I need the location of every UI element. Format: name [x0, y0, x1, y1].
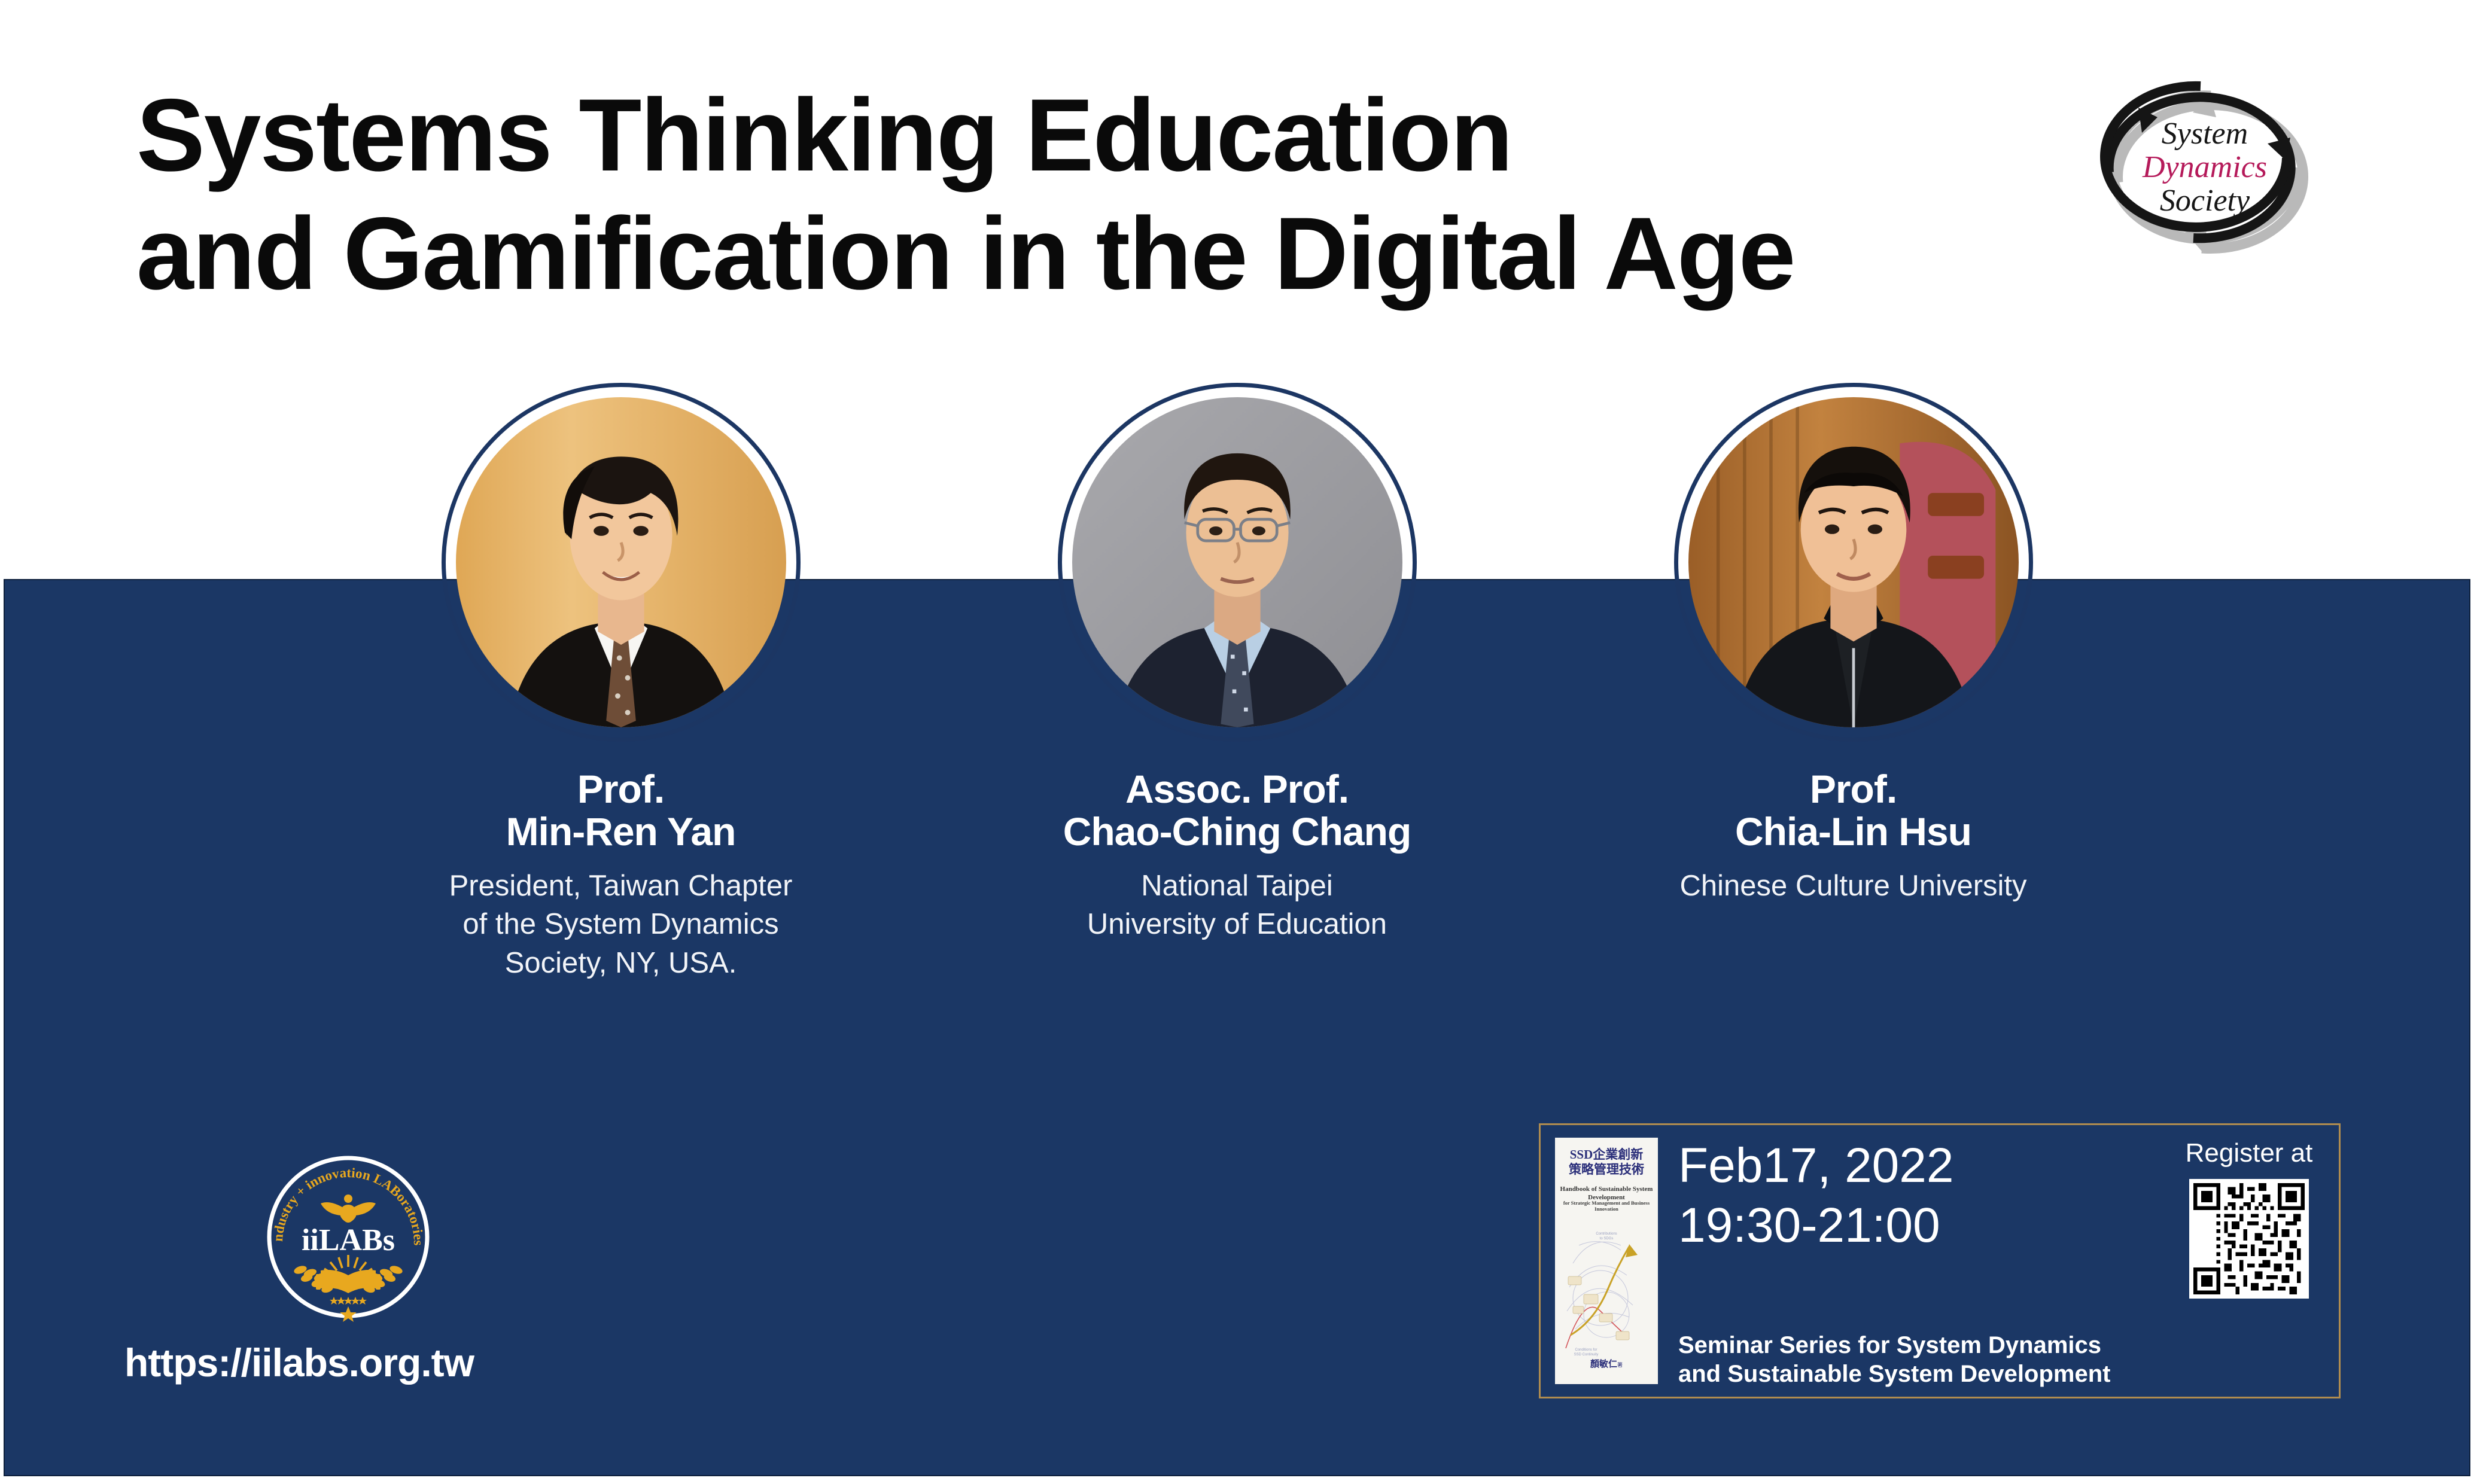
winged-figure-icon — [321, 1194, 376, 1223]
portrait-photo-chia-lin-hsu — [1688, 397, 2019, 727]
affil-line: Society, NY, USA. — [449, 944, 793, 983]
book-cover-image: Contributions to SDGs Conditions for SSD… — [1555, 1138, 1658, 1384]
speaker-card-3: Prof. Chia-Lin Hsu Chinese Culture Unive… — [1545, 383, 2162, 905]
page-title: Systems Thinking Education and Gamificat… — [136, 77, 2003, 313]
speaker-fullname-3: Chia-Lin Hsu — [1735, 810, 1971, 853]
iilabs-logo: industry + innovation LABoratories iiLAB… — [258, 1147, 438, 1327]
affil-line: Chinese Culture University — [1679, 867, 2026, 906]
event-datetime-block: Feb17, 2022 19:30-21:00 Seminar Series f… — [1658, 1125, 2159, 1397]
speaker-title-2: Assoc. Prof. — [1063, 768, 1411, 810]
registration-qr-code[interactable] — [2189, 1179, 2309, 1299]
speaker-title-3: Prof. — [1735, 768, 1971, 810]
svg-text:Conditions for: Conditions for — [1575, 1348, 1597, 1352]
portrait-wrap-3 — [1674, 383, 2033, 742]
speaker-name-1: Prof. Min-Ren Yan — [506, 768, 736, 854]
book-title-line-1: SSD企業創新 — [1555, 1147, 1658, 1162]
portrait-photo-min-ren-yan — [456, 397, 786, 727]
system-dynamics-society-logo: System Dynamics Society — [2076, 71, 2327, 262]
event-date: Feb17, 2022 — [1678, 1136, 2159, 1196]
event-info-panel: Contributions to SDGs Conditions for SSD… — [1539, 1123, 2341, 1398]
speaker-affiliation-1: President, Taiwan Chapter of the System … — [449, 867, 793, 983]
iilabs-website-url[interactable]: https://iilabs.org.tw — [124, 1340, 474, 1385]
series-line-2: and Sustainable System Development — [1678, 1360, 2159, 1388]
event-time: 19:30-21:00 — [1678, 1196, 2159, 1256]
speaker-card-1: Prof. Min-Ren Yan President, Taiwan Chap… — [313, 383, 929, 983]
logo-line-2-text: Dynamics — [2142, 150, 2267, 184]
portrait-wrap-1 — [442, 383, 801, 742]
title-line-1: Systems Thinking Education — [136, 77, 2003, 195]
speaker-affiliation-2: National Taipei University of Education — [1087, 867, 1387, 944]
registration-block: Register at — [2159, 1125, 2339, 1397]
register-at-label: Register at — [2186, 1138, 2313, 1168]
affil-line: President, Taiwan Chapter — [449, 867, 793, 906]
speaker-title-1: Prof. — [506, 768, 736, 810]
portrait-photo-chao-ching-chang — [1072, 397, 1402, 727]
speaker-card-2: Assoc. Prof. Chao-Ching Chang National T… — [929, 383, 1545, 944]
svg-text:to SDGs: to SDGs — [1600, 1237, 1614, 1241]
title-line-2: and Gamification in the Digital Age — [136, 195, 2003, 313]
book-author-name: 顏敏仁 — [1590, 1360, 1617, 1369]
speaker-fullname-2: Chao-Ching Chang — [1063, 810, 1411, 853]
seminar-series-label: Seminar Series for System Dynamics and S… — [1678, 1331, 2159, 1388]
iilabs-name-text: iiLABs — [302, 1223, 395, 1257]
speakers-row: Prof. Min-Ren Yan President, Taiwan Chap… — [0, 383, 2474, 983]
book-title-line-2: 策略管理技術 — [1555, 1162, 1658, 1177]
speaker-affiliation-3: Chinese Culture University — [1679, 867, 2026, 906]
speaker-name-2: Assoc. Prof. Chao-Ching Chang — [1063, 768, 1411, 854]
affil-line: University of Education — [1087, 905, 1387, 944]
affil-line: National Taipei — [1087, 867, 1387, 906]
book-subtitle-line-2: for Strategic Management and Business In… — [1559, 1200, 1654, 1212]
book-author: 顏敏仁著 — [1555, 1357, 1658, 1370]
portrait-wrap-2 — [1058, 383, 1417, 742]
speaker-name-3: Prof. Chia-Lin Hsu — [1735, 768, 1971, 854]
stars-row — [330, 1297, 367, 1322]
speaker-fullname-1: Min-Ren Yan — [506, 810, 736, 853]
series-line-1: Seminar Series for System Dynamics — [1678, 1331, 2159, 1360]
affil-line: of the System Dynamics — [449, 905, 793, 944]
logo-line-1-text: System — [2162, 117, 2248, 151]
svg-text:Contributions: Contributions — [1596, 1232, 1617, 1236]
logo-line-3-text: Society — [2160, 184, 2250, 218]
book-author-suffix: 著 — [1617, 1362, 1623, 1368]
book-title: SSD企業創新 策略管理技術 — [1555, 1147, 1658, 1177]
svg-text:SSD Continuity: SSD Continuity — [1574, 1353, 1599, 1357]
